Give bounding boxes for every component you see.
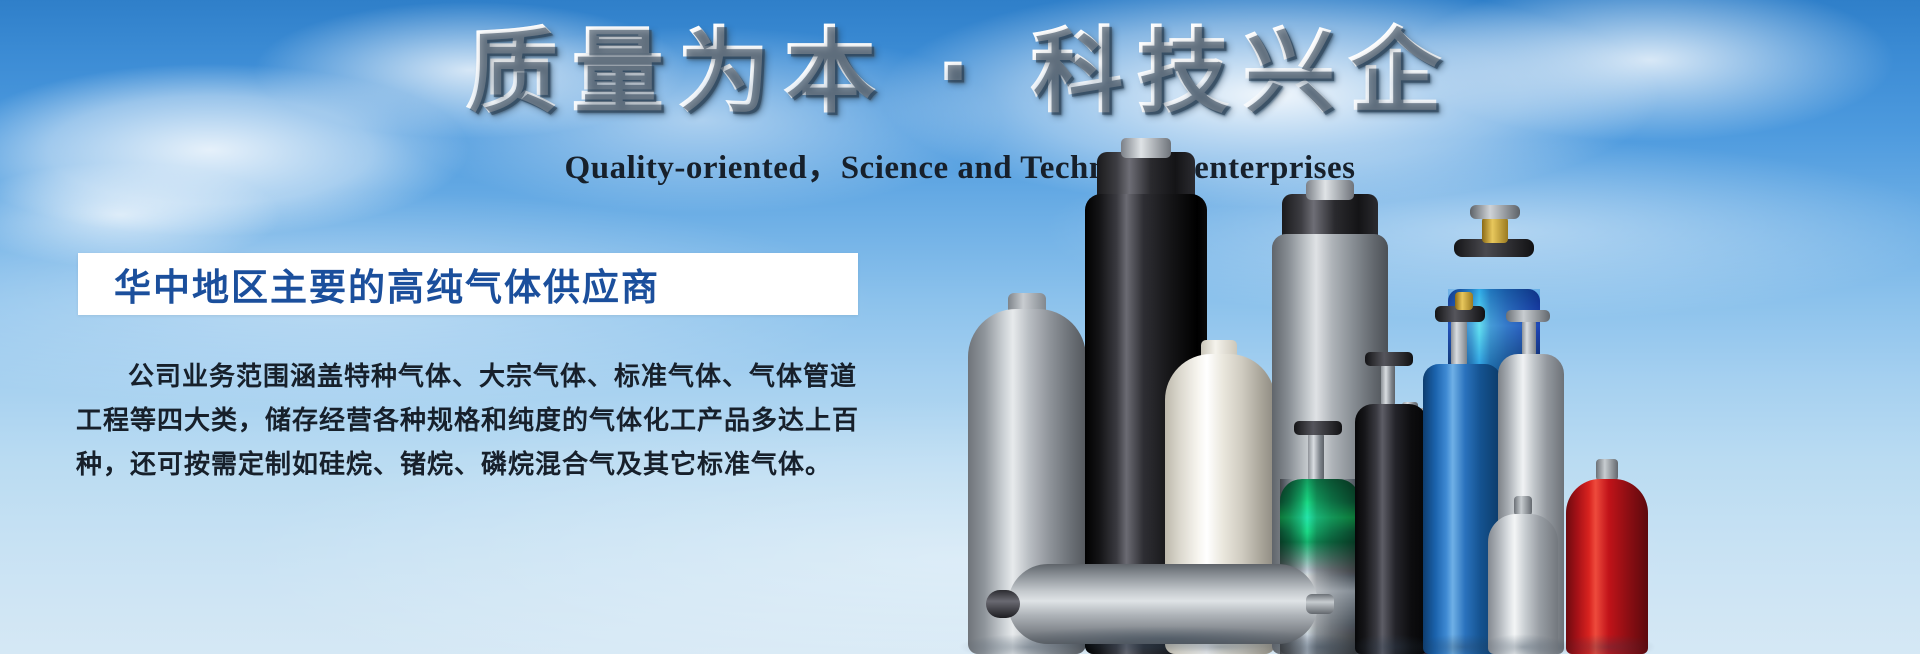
description-text: 公司业务范围涵盖特种气体、大宗气体、标准气体、气体管道工程等四大类，储存经营各种…	[76, 355, 866, 487]
black-slim-cylinder	[1355, 404, 1427, 654]
aluminium-short-cylinder	[1488, 514, 1558, 654]
tagline-text: 华中地区主要的高纯气体供应商	[78, 257, 660, 311]
horizontal-grey-tank	[1008, 564, 1318, 644]
promo-banner: 质量为本 · 科技兴企 质量为本 · 科技兴企 Quality-oriented…	[0, 0, 1920, 654]
gas-cylinder-lineup	[950, 0, 1920, 654]
red-short-cylinder	[1566, 479, 1648, 654]
description-paragraph: 公司业务范围涵盖特种气体、大宗气体、标准气体、气体管道工程等四大类，储存经营各种…	[76, 355, 866, 487]
tagline-box: 华中地区主要的高纯气体供应商	[78, 253, 858, 315]
